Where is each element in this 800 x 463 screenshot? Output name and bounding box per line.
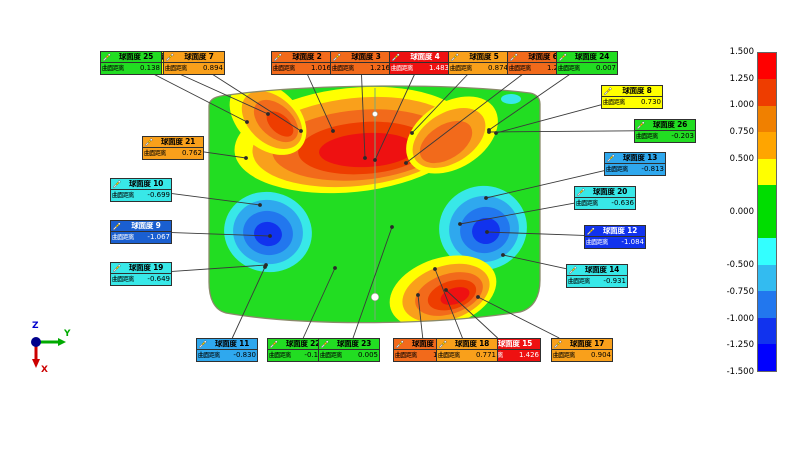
callout-value-row: 曲面距离-0.636 (575, 198, 635, 209)
callout-value: 1.483 (429, 65, 449, 72)
callout-value-label: 曲面距离 (165, 65, 187, 72)
seam-node-bottom (371, 293, 379, 301)
legend-tick-label-0: 1.500 (708, 47, 754, 57)
callout-value: 0.904 (591, 352, 611, 359)
callout-value-label: 曲面距离 (553, 352, 575, 359)
callout-value-row: 曲面距离0.005 (319, 350, 379, 361)
callout-value: -0.699 (147, 192, 170, 199)
seam-node-top (372, 111, 377, 116)
callout-value-row: 曲面距离-0.699 (111, 190, 171, 201)
callout-value-label: 曲面距离 (102, 65, 124, 72)
callout-label-4[interactable]: 球面度 4曲面距离1.483 (389, 51, 451, 75)
callout-title: 球面度 21 (154, 138, 202, 146)
probe-icon (576, 188, 585, 197)
callout-value-label: 曲面距离 (558, 65, 580, 72)
probe-icon (509, 53, 518, 62)
coordinate-axis-triad: Y X Z (14, 312, 76, 378)
callout-label-7[interactable]: 球面度 7曲面距离0.894 (163, 51, 225, 75)
probe-icon (102, 53, 111, 62)
callout-value: -0.813 (641, 166, 664, 173)
legend-band-2 (758, 106, 776, 132)
callout-label-5[interactable]: 球面度 5曲面距离0.874 (448, 51, 510, 75)
surface-deviation-viewport: 球面度 1曲面距离0.627球面度 2曲面距离1.016球面度 3曲面距离1.2… (0, 0, 800, 463)
callout-value-label: 曲面距离 (112, 192, 134, 199)
callout-header: 球面度 7 (164, 52, 224, 63)
axis-y-label: Y (63, 329, 71, 339)
probe-icon (269, 340, 278, 349)
callout-value: -0.636 (611, 200, 634, 207)
legend-band-1 (758, 79, 776, 105)
callout-title: 球面度 24 (568, 53, 616, 61)
callout-label-24[interactable]: 球面度 24曲面距离0.007 (556, 51, 618, 75)
probe-icon (586, 227, 595, 236)
callout-label-11[interactable]: 球面度 11曲面距离-0.830 (196, 338, 258, 362)
callout-value-label: 曲面距离 (332, 65, 354, 72)
callout-value-row: 曲面距离0.762 (143, 148, 203, 159)
callout-value-label: 曲面距离 (450, 65, 472, 72)
callout-header: 球面度 2 (272, 52, 332, 63)
callout-value: 0.771 (476, 352, 496, 359)
legend-band-8 (758, 265, 776, 291)
callout-header: 球面度 11 (197, 339, 257, 350)
probe-icon (603, 87, 612, 96)
probe-icon (320, 340, 329, 349)
callout-value: -0.203 (671, 133, 694, 140)
callout-value: -0.830 (233, 352, 256, 359)
callout-header: 球面度 9 (111, 221, 171, 232)
legend-tick-label-5: 0.000 (708, 207, 754, 217)
legend-tick-label-9: -1.250 (708, 340, 754, 350)
callout-title: 球面度 2 (283, 53, 331, 61)
callout-value-row: 曲面距离-0.649 (111, 274, 171, 285)
callout-header: 球面度 14 (567, 265, 627, 276)
callout-value-label: 曲面距离 (144, 150, 166, 157)
callout-value-label: 曲面距离 (603, 99, 625, 106)
callout-label-21[interactable]: 球面度 21曲面距离0.762 (142, 136, 204, 160)
callout-value-label: 曲面距离 (568, 278, 590, 285)
legend-tick-label-1: 1.250 (708, 74, 754, 84)
callout-label-9[interactable]: 球面度 9曲面距离-1.067 (110, 220, 172, 244)
callout-value-row: 曲面距离-1.084 (585, 237, 645, 248)
callout-value-row: 曲面距离0.138 (101, 63, 161, 74)
probe-icon (568, 266, 577, 275)
callout-label-3[interactable]: 球面度 3曲面距离1.216 (330, 51, 392, 75)
callout-label-18[interactable]: 球面度 18曲面距离0.771 (436, 338, 498, 362)
callout-value: 0.874 (488, 65, 508, 72)
callout-value-row: 曲面距离0.904 (552, 350, 612, 361)
callout-title: 球面度 26 (646, 121, 694, 129)
callout-title: 球面度 18 (448, 340, 496, 348)
callout-label-25[interactable]: 球面度 25曲面距离0.138 (100, 51, 162, 75)
callout-value: 1.426 (519, 352, 539, 359)
callout-header: 球面度 23 (319, 339, 379, 350)
callout-label-17[interactable]: 球面度 17曲面距离0.904 (551, 338, 613, 362)
callout-header: 球面度 8 (602, 86, 662, 97)
callout-value: -1.067 (147, 234, 170, 241)
callout-header: 球面度 13 (605, 153, 665, 164)
callout-header: 球面度 26 (635, 120, 695, 131)
callout-value: 0.138 (140, 65, 160, 72)
legend-band-9 (758, 291, 776, 317)
probe-icon (273, 53, 282, 62)
callout-title: 球面度 20 (586, 188, 634, 196)
callout-value-row: 曲面距离-1.067 (111, 232, 171, 243)
callout-value-label: 曲面距离 (112, 276, 134, 283)
callout-value-row: 曲面距离-0.931 (567, 276, 627, 287)
callout-value: -0.931 (603, 278, 626, 285)
callout-value: 0.894 (203, 65, 223, 72)
callout-value-label: 曲面距离 (273, 65, 295, 72)
legend-band-7 (758, 238, 776, 264)
color-scale-legend[interactable] (757, 52, 777, 372)
callout-header: 球面度 20 (575, 187, 635, 198)
callout-value-label: 曲面距离 (320, 352, 342, 359)
callout-value: 0.730 (641, 99, 661, 106)
legend-band-5 (758, 185, 776, 211)
probe-icon (332, 53, 341, 62)
callout-label-12[interactable]: 球面度 12曲面距离-1.084 (584, 225, 646, 249)
legend-tick-label-10: -1.500 (708, 367, 754, 377)
callout-header: 球面度 12 (585, 226, 645, 237)
probe-icon (112, 180, 121, 189)
callout-value-label: 曲面距离 (395, 352, 417, 359)
probe-icon (558, 53, 567, 62)
probe-icon (450, 53, 459, 62)
callout-value-row: 曲面距离0.894 (164, 63, 224, 74)
callout-header: 球面度 3 (331, 52, 391, 63)
probe-icon (391, 53, 400, 62)
legend-band-6 (758, 212, 776, 238)
probe-icon (636, 121, 645, 130)
callout-title: 球面度 15 (491, 340, 539, 348)
callout-title: 球面度 17 (563, 340, 611, 348)
legend-tick-label-4: 0.500 (708, 154, 754, 164)
callout-value-label: 曲面距离 (391, 65, 413, 72)
callout-title: 球面度 9 (122, 222, 170, 230)
probe-icon (112, 222, 121, 231)
callout-title: 球面度 19 (122, 264, 170, 272)
callout-label-14[interactable]: 球面度 14曲面距离-0.931 (566, 264, 628, 288)
callout-header: 球面度 24 (557, 52, 617, 63)
callout-header: 球面度 5 (449, 52, 509, 63)
callout-label-10[interactable]: 球面度 10曲面距离-0.699 (110, 178, 172, 202)
callout-title: 球面度 3 (342, 53, 390, 61)
callout-header: 球面度 4 (390, 52, 450, 63)
legend-tick-label-7: -0.750 (708, 287, 754, 297)
probe-icon (606, 154, 615, 163)
axis-x-arrowhead (32, 359, 40, 368)
axis-x-label: X (41, 365, 48, 375)
probe-icon (144, 138, 153, 147)
callout-label-26[interactable]: 球面度 26曲面距离-0.203 (634, 119, 696, 143)
callout-title: 球面度 12 (596, 227, 644, 235)
callout-title: 球面度 14 (578, 266, 626, 274)
callout-label-23[interactable]: 球面度 23曲面距离0.005 (318, 338, 380, 362)
callout-label-20[interactable]: 球面度 20曲面距离-0.636 (574, 186, 636, 210)
axis-origin-node (31, 337, 41, 347)
callout-value-label: 曲面距离 (576, 200, 598, 207)
callout-label-13[interactable]: 球面度 13曲面距离-0.813 (604, 152, 666, 176)
callout-value-label: 曲面距离 (606, 166, 628, 173)
legend-tick-label-6: -0.500 (708, 260, 754, 270)
callout-header: 球面度 18 (437, 339, 497, 350)
callout-value: 0.762 (182, 150, 202, 157)
callout-title: 球面度 13 (616, 154, 664, 162)
callout-value: 0.007 (596, 65, 616, 72)
probe-icon (198, 340, 207, 349)
callout-value-row: 曲面距离-0.203 (635, 131, 695, 142)
callout-value-row: 曲面距离-0.830 (197, 350, 257, 361)
legend-band-4 (758, 159, 776, 185)
probe-icon (553, 340, 562, 349)
callout-header: 球面度 19 (111, 263, 171, 274)
callout-value-row: 曲面距离0.874 (449, 63, 509, 74)
probe-icon (112, 264, 121, 273)
callout-value-row: 曲面距离0.771 (437, 350, 497, 361)
callout-header: 球面度 17 (552, 339, 612, 350)
callout-value-row: 曲面距离1.483 (390, 63, 450, 74)
callout-value: 1.016 (311, 65, 331, 72)
legend-tick-label-8: -1.000 (708, 314, 754, 324)
legend-band-3 (758, 132, 776, 158)
callout-value: -1.084 (621, 239, 644, 246)
callout-header: 球面度 25 (101, 52, 161, 63)
callout-label-19[interactable]: 球面度 19曲面距离-0.649 (110, 262, 172, 286)
callout-value: 1.216 (370, 65, 390, 72)
probe-icon (165, 53, 174, 62)
probe-icon (438, 340, 447, 349)
callout-value-row: 曲面距离-0.813 (605, 164, 665, 175)
legend-tick-label-3: 0.750 (708, 127, 754, 137)
callout-title: 球面度 7 (175, 53, 223, 61)
callout-value: -0.649 (147, 276, 170, 283)
callout-value-label: 曲面距离 (636, 133, 658, 140)
callout-value-label: 曲面距离 (198, 352, 220, 359)
callout-header: 球面度 10 (111, 179, 171, 190)
callout-value-label: 曲面距离 (269, 352, 291, 359)
axis-y-arrowhead (58, 338, 66, 346)
callout-title: 球面度 4 (401, 53, 449, 61)
probe-icon (395, 340, 404, 349)
callout-value-label: 曲面距离 (438, 352, 460, 359)
legend-band-0 (758, 53, 776, 79)
callout-value-label: 曲面距离 (112, 234, 134, 241)
callout-label-2[interactable]: 球面度 2曲面距离1.016 (271, 51, 333, 75)
callout-value-row: 曲面距离0.007 (557, 63, 617, 74)
callout-value-row: 曲面距离1.016 (272, 63, 332, 74)
callout-label-8[interactable]: 球面度 8曲面距离0.730 (601, 85, 663, 109)
axis-z-label: Z (32, 321, 39, 331)
callout-value-label: 曲面距离 (509, 65, 531, 72)
legend-tick-label-2: 1.000 (708, 100, 754, 110)
callout-header: 球面度 21 (143, 137, 203, 148)
callout-value: 0.005 (358, 352, 378, 359)
legend-band-11 (758, 344, 776, 370)
legend-band-10 (758, 318, 776, 344)
callout-title: 球面度 25 (112, 53, 160, 61)
callout-title: 球面度 8 (613, 87, 661, 95)
callout-title: 球面度 11 (208, 340, 256, 348)
callout-value-row: 曲面距离0.730 (602, 97, 662, 108)
callout-value-label: 曲面距离 (586, 239, 608, 246)
callout-title: 球面度 10 (122, 180, 170, 188)
callout-value-row: 曲面距离1.216 (331, 63, 391, 74)
callout-title: 球面度 5 (460, 53, 508, 61)
callout-title: 球面度 23 (330, 340, 378, 348)
